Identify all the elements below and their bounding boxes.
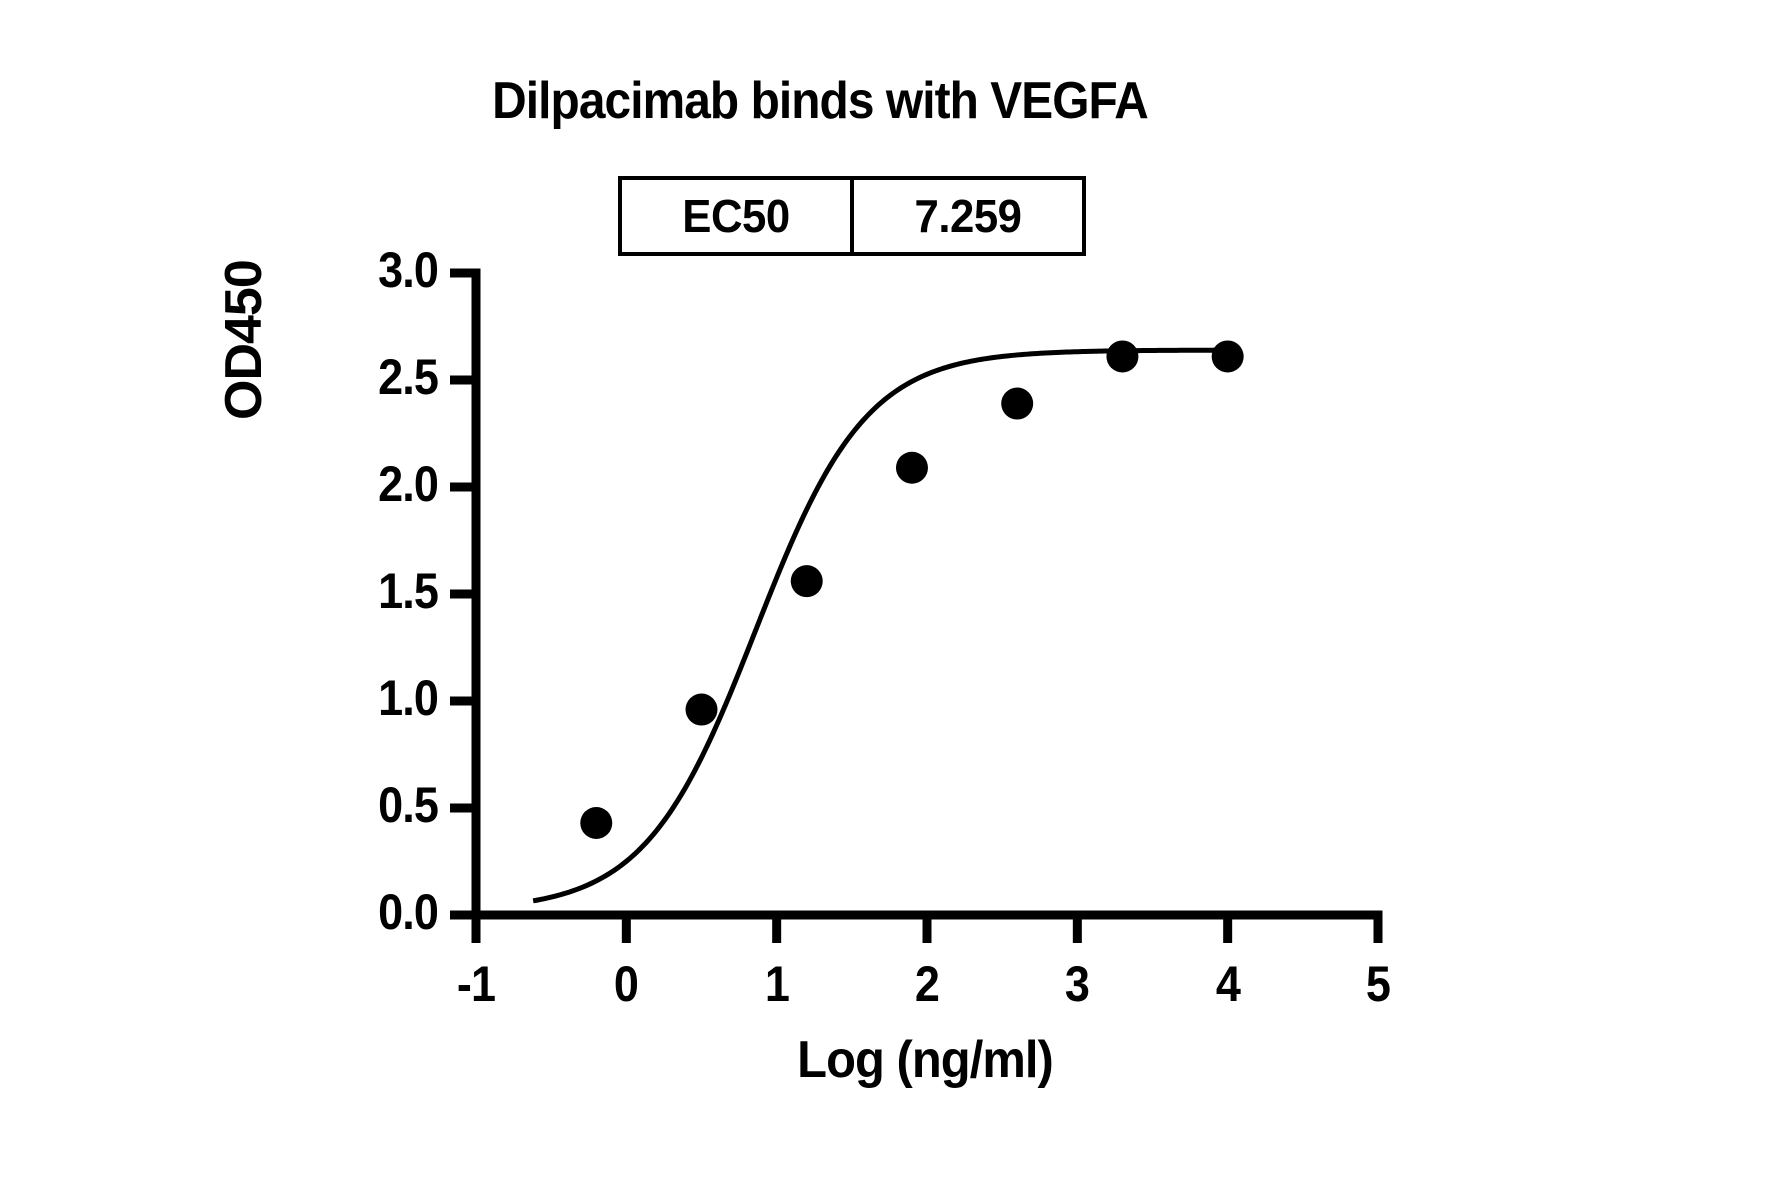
y-tick-label: 1.0 (202, 669, 438, 727)
x-tick-label: 3 (996, 955, 1158, 1013)
y-tick-label: 0.0 (202, 883, 438, 941)
y-axis-title: OD450 (214, 260, 274, 420)
data-point (1001, 388, 1033, 420)
data-point (791, 565, 823, 597)
x-tick-label: 4 (1147, 955, 1309, 1013)
fit-curve (533, 350, 1231, 901)
data-point (1106, 340, 1138, 372)
x-tick-label: -1 (395, 955, 557, 1013)
data-point-markers (580, 340, 1243, 839)
x-tick-label: 2 (846, 955, 1008, 1013)
x-tick-label: 5 (1297, 955, 1459, 1013)
x-axis-title: Log (ng/ml) (502, 1030, 1348, 1090)
chart-figure: Dilpacimab binds with VEGFA EC50 7.259 0… (0, 0, 1781, 1197)
y-tick-label: 0.5 (202, 776, 438, 834)
data-point (580, 807, 612, 839)
x-tick-label: 1 (696, 955, 858, 1013)
data-point (896, 452, 928, 484)
x-tick-label: 0 (545, 955, 707, 1013)
data-point (686, 694, 718, 726)
plot-area: 0.00.51.01.52.02.53.0 -1012345 (0, 0, 1781, 1197)
y-tick-label: 2.0 (202, 455, 438, 513)
data-point (1212, 340, 1244, 372)
y-tick-label: 1.5 (202, 562, 438, 620)
